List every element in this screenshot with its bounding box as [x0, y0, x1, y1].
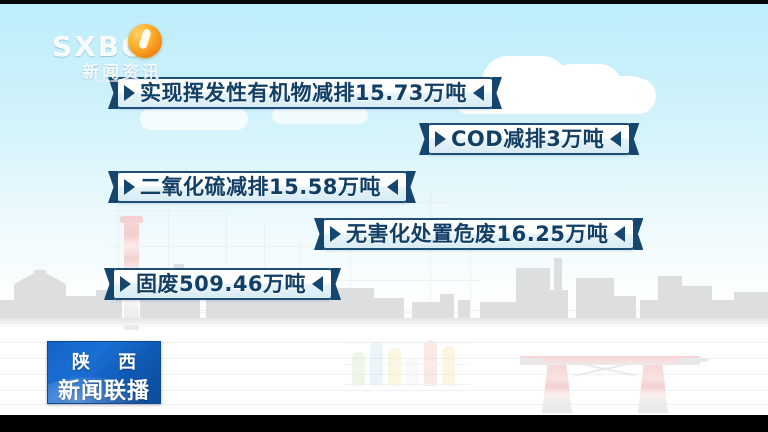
bridge-pier-left — [542, 365, 572, 413]
channel-watermark: SXBC 新闻资讯 — [52, 22, 184, 78]
banner-voc-label: 实现挥发性有机物减排15.73万吨 — [140, 83, 467, 104]
banner-hazardous-waste[interactable]: 无害化处置危废16.25万吨 — [322, 218, 635, 250]
chevron-left-icon — [473, 85, 484, 101]
banner-solid-waste-label: 固废509.46万吨 — [136, 274, 306, 295]
watermark-divider — [76, 80, 188, 82]
chevron-left-icon — [614, 226, 625, 242]
bridge-graphic — [520, 344, 720, 415]
broadcast-screen: 实现挥发性有机物减排15.73万吨 COD减排3万吨 二氧化硫减排15.58万吨… — [0, 0, 768, 432]
program-bug-title: 新闻联播 — [48, 373, 160, 404]
ground-band — [0, 318, 768, 325]
chevron-right-icon — [124, 85, 135, 101]
chevron-left-icon — [312, 276, 323, 292]
letterbox-bottom — [0, 415, 768, 432]
chevron-right-icon — [330, 226, 341, 242]
orange-sphere-icon — [128, 24, 162, 58]
banner-solid-waste[interactable]: 固废509.46万吨 — [112, 268, 333, 300]
chevron-right-icon — [120, 276, 131, 292]
banner-cod-label: COD减排3万吨 — [451, 129, 604, 150]
banner-so2[interactable]: 二氧化硫减排15.58万吨 — [116, 171, 408, 203]
bridge-deck — [520, 356, 700, 365]
chevron-right-icon — [435, 131, 446, 147]
scene-stage: 实现挥发性有机物减排15.73万吨 COD减排3万吨 二氧化硫减排15.58万吨… — [0, 4, 768, 415]
program-bug: 陕 西 新闻联播 — [47, 341, 161, 404]
program-bug-region: 陕 西 — [48, 348, 160, 374]
banner-hazardous-waste-label: 无害化处置危废16.25万吨 — [346, 224, 608, 245]
letterbox-top — [0, 0, 768, 4]
chevron-right-icon — [124, 179, 135, 195]
bridge-pier-right — [638, 365, 668, 413]
chevron-left-icon — [387, 179, 398, 195]
chevron-left-icon — [610, 131, 621, 147]
banner-so2-label: 二氧化硫减排15.58万吨 — [140, 177, 381, 198]
banner-cod[interactable]: COD减排3万吨 — [427, 123, 631, 155]
storage-tanks — [352, 334, 462, 386]
